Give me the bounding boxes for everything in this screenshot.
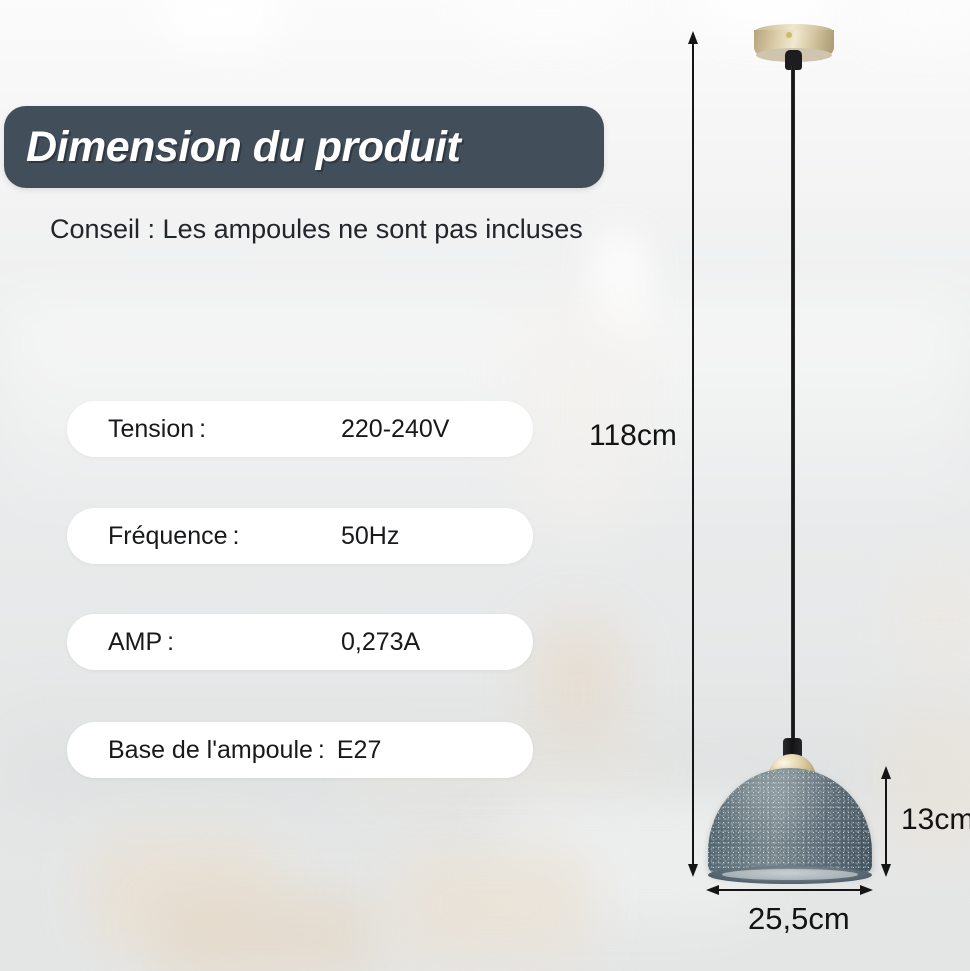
spec-row-base-ampoule: Base de l'ampoule : E27 <box>67 722 533 778</box>
lamp-shade-inner-lip <box>722 869 858 880</box>
arrow-right-icon <box>860 885 873 895</box>
background-furniture-2 <box>150 890 380 971</box>
arrow-down-icon <box>881 864 891 877</box>
background-lamp-right <box>905 560 970 680</box>
title-banner: Dimension du produit <box>4 106 604 188</box>
spec-row-frequence: Fréquence : 50Hz <box>67 508 533 564</box>
background-furniture-3 <box>392 846 592 964</box>
dimension-label-shade-height: 13cm <box>901 803 970 837</box>
spec-label: Fréquence : <box>108 522 239 551</box>
background-ceiling-light-4 <box>865 0 970 44</box>
background-ceiling-light-2 <box>470 0 620 40</box>
background-curtain <box>520 300 640 530</box>
spec-label: Tension : <box>108 415 206 444</box>
spec-row-amp: AMP : 0,273A <box>67 614 533 670</box>
hanging-cable <box>791 66 795 742</box>
arrow-down-icon <box>688 864 698 877</box>
dimension-label-shade-diameter: 25,5cm <box>748 901 850 937</box>
dimension-label-total-height: 118cm <box>589 419 677 453</box>
canopy-screw-icon <box>786 32 792 38</box>
spec-label: AMP : <box>108 628 174 657</box>
dimension-line-shade-diameter <box>713 889 865 891</box>
lamp-shade <box>708 768 872 875</box>
product-dimension-infographic: Dimension du produit Conseil : Les ampou… <box>0 0 970 971</box>
spec-value: 0,273A <box>341 628 420 657</box>
dimension-line-total-height <box>692 38 694 870</box>
subtitle-note: Conseil : Les ampoules ne sont pas inclu… <box>50 214 583 245</box>
background-ceiling-light-1 <box>160 0 280 50</box>
spec-value: 50Hz <box>341 522 399 551</box>
page-title: Dimension du produit <box>26 123 460 172</box>
spec-label: Base de l'ampoule : <box>108 736 325 765</box>
spec-row-tension: Tension : 220-240V <box>67 401 533 457</box>
dimension-line-shade-height <box>885 773 887 869</box>
shade-speckle-texture <box>708 768 872 875</box>
spec-value: 220-240V <box>341 415 449 444</box>
spec-value: E27 <box>337 736 381 765</box>
